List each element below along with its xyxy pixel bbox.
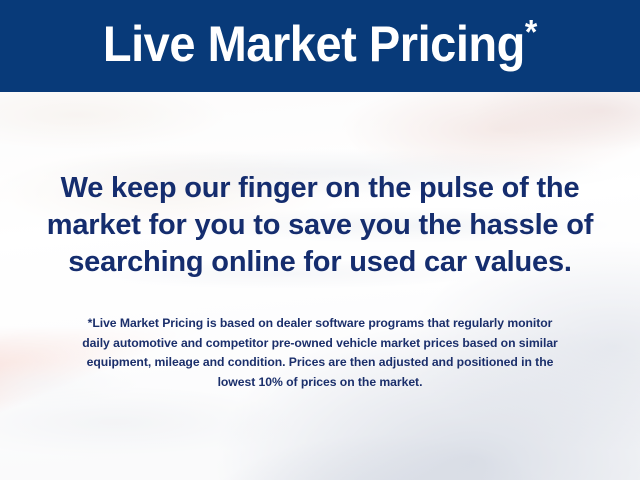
header-band: Live Market Pricing*: [0, 0, 640, 92]
title-asterisk-marker: *: [525, 13, 537, 51]
page-title-text: Live Market Pricing: [103, 16, 525, 72]
headline-line-3: searching online for used car values.: [18, 244, 622, 281]
disclaimer-line-4: lowest 10% of prices on the market.: [26, 373, 614, 393]
live-market-pricing-banner: Live Market Pricing* We keep our finger …: [0, 0, 640, 480]
disclaimer-text: *Live Market Pricing is based on dealer …: [0, 314, 640, 392]
disclaimer-line-1: *Live Market Pricing is based on dealer …: [26, 314, 614, 334]
disclaimer-line-2: daily automotive and competitor pre-owne…: [26, 334, 614, 354]
headline-line-2: market for you to save you the hassle of: [18, 207, 622, 244]
headline-message: We keep our finger on the pulse of the m…: [0, 170, 640, 281]
headline-line-1: We keep our finger on the pulse of the: [18, 170, 622, 207]
disclaimer-line-3: equipment, mileage and condition. Prices…: [26, 353, 614, 373]
banner-content: We keep our finger on the pulse of the m…: [0, 92, 640, 480]
page-title: Live Market Pricing*: [103, 19, 537, 73]
